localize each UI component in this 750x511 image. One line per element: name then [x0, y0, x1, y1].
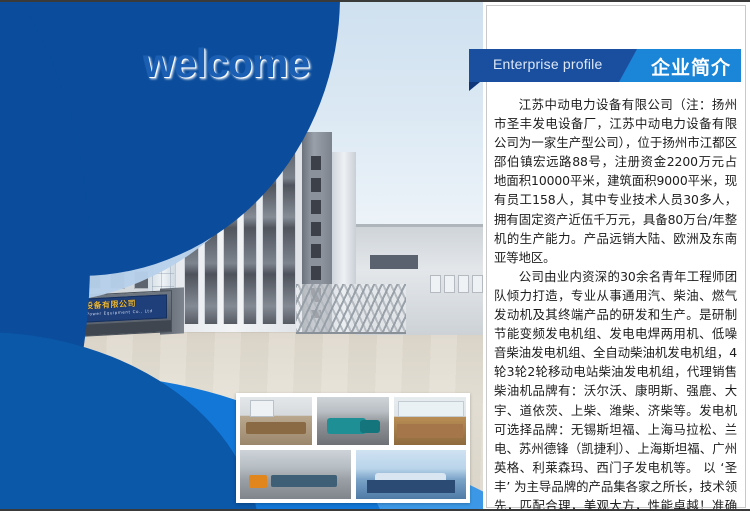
profile-paragraph-2: 公司由业内资深的30余名青年工程师团队倾力打造，专业从事通用汽、柴油、燃气发动机…: [494, 267, 737, 511]
ribbon-chinese-label: 企业简介: [651, 53, 731, 80]
profile-text-panel: Enterprise profile 企业简介 江苏中动电力设备有限公司（注：扬…: [483, 2, 750, 511]
profile-paragraph-1: 江苏中动电力设备有限公司（注：扬州市圣丰发电设备厂，江苏中动电力设备有限公司为一…: [494, 95, 737, 267]
hero-image-panel: 中动电力 江苏中动电力设备有限公司 Jiangsu Zhongdong Powe…: [0, 2, 483, 511]
profile-body-text: 江苏中动电力设备有限公司（注：扬州市圣丰发电设备厂，江苏中动电力设备有限公司为一…: [494, 95, 737, 511]
welcome-title: welcome: [143, 40, 309, 87]
thumbnail-office-area[interactable]: [393, 396, 467, 446]
factory-gate: [296, 284, 406, 334]
enterprise-profile-ribbon: Enterprise profile 企业简介: [469, 49, 741, 82]
ribbon-english-label: Enterprise profile: [493, 56, 602, 72]
thumbnail-meeting-room[interactable]: [239, 396, 313, 446]
photo-gallery: [236, 393, 470, 503]
thumbnail-workshop[interactable]: [239, 449, 352, 500]
thumbnail-generator-sets[interactable]: [316, 396, 390, 446]
company-profile-page: 中动电力 江苏中动电力设备有限公司 Jiangsu Zhongdong Powe…: [0, 0, 750, 511]
thumbnail-boardroom[interactable]: [355, 449, 468, 500]
